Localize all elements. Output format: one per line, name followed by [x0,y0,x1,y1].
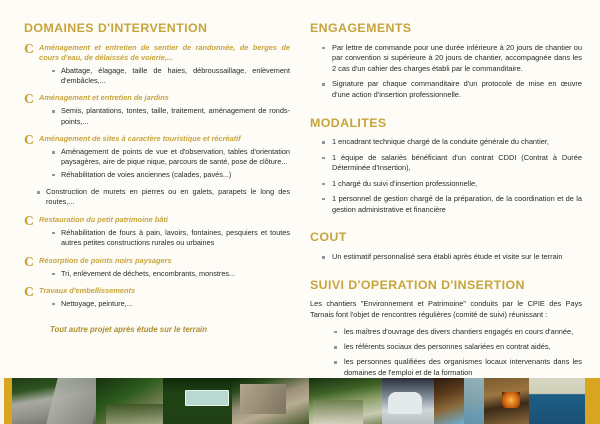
list-item: les référents sociaux des personnes sala… [334,342,582,353]
scroll-bullet-icon: Ɔ [24,285,34,299]
heading-suivi: SUIVI D'OPERATION D'INSERTION [310,279,582,293]
scroll-bullet-icon: Ɔ [24,255,34,269]
list-item: Réhabilitation de fours à pain, lavoirs,… [52,228,290,249]
list-item: Un estimatif personnalisé sera établi ap… [322,252,582,263]
two-column-body: DOMAINES D'INTERVENTION Ɔ Aménagement et… [0,0,600,378]
photo-strip-right-bar [585,378,600,424]
list-suivi: les maîtres d'ouvrage des divers chantie… [310,327,582,379]
sublist-sites-touristiques: Aménagement de points de vue et d'observ… [24,147,290,180]
list-item: Aménagement de points de vue et d'observ… [52,147,290,168]
topic-jardins: Ɔ Aménagement et entretien de jardins [24,93,290,103]
topic-embellissements: Ɔ Travaux d'embellissements [24,286,290,296]
topic-block-sites-touristiques: Ɔ Aménagement de sites à caractère touri… [24,134,290,208]
heading-modalites: MODALITES [310,117,582,131]
heading-domaines: DOMAINES D'INTERVENTION [24,22,290,36]
flatlist-murets: Construction de murets en pierres ou en … [24,187,290,208]
photo-strip [0,378,600,424]
sublist-patrimoine: Réhabilitation de fours à pain, lavoirs,… [24,228,290,249]
list-item: Signature par chaque commanditaire d'un … [322,79,582,100]
photo-pane-path [12,378,96,424]
sublist-embellissements: Nettoyage, peinture,... [24,299,290,309]
list-item: 1 encadrant technique chargé de la condu… [322,137,582,148]
list-item: Construction de murets en pierres ou en … [37,187,290,208]
list-item: Réhabilitation de voies anciennes (calad… [52,170,290,180]
heading-cout: COUT [310,231,582,245]
document-page: DOMAINES D'INTERVENTION Ɔ Aménagement et… [0,0,600,424]
photo-pane-fountain [382,378,434,424]
topic-block-patrimoine: Ɔ Restauration du petit patrimoine bâti … [24,215,290,249]
photo-pane-bread-oven [484,378,529,424]
left-column: DOMAINES D'INTERVENTION Ɔ Aménagement et… [10,22,300,378]
right-column: ENGAGEMENTS Par lettre de commande pour … [300,22,590,378]
photo-pane-stone-wall [232,378,309,424]
list-item: 1 équipe de salariés bénéficiant d'un co… [322,153,582,174]
topic-title: Travaux d'embellissements [39,286,290,296]
topic-title: Restauration du petit patrimoine bâti [39,215,290,225]
list-item: Nettoyage, peinture,... [52,299,290,309]
sublist-jardins: Semis, plantations, tontes, taille, trai… [24,106,290,127]
topic-block-jardins: Ɔ Aménagement et entretien de jardins Se… [24,93,290,127]
scroll-bullet-icon: Ɔ [24,92,34,106]
topic-block-points-noirs: Ɔ Résorption de points noirs paysagers T… [24,256,290,279]
topic-title: Aménagement de sites à caractère tourist… [39,134,290,144]
scroll-bullet-icon: Ɔ [24,133,34,147]
closing-note: Tout autre projet après étude sur le ter… [50,325,290,334]
photo-pane-pool [529,378,584,424]
topic-block-embellissements: Ɔ Travaux d'embellissements Nettoyage, p… [24,286,290,309]
topic-title: Résorption de points noirs paysagers [39,256,290,266]
list-modalites: 1 encadrant technique chargé de la condu… [310,137,582,215]
topic-randonnee: Ɔ Aménagement et entretien de sentier de… [24,43,290,63]
sublist-points-noirs: Tri, enlèvement de déchets, encombrants,… [24,269,290,279]
topic-title: Aménagement et entretien de sentier de r… [39,43,290,63]
topic-block-randonnee: Ɔ Aménagement et entretien de sentier de… [24,43,290,87]
list-item: Par lettre de commande pour une durée in… [322,43,582,75]
topic-patrimoine: Ɔ Restauration du petit patrimoine bâti [24,215,290,225]
list-item: 1 personnel de gestion chargé de la prép… [322,194,582,215]
topic-points-noirs: Ɔ Résorption de points noirs paysagers [24,256,290,266]
photo-pane-sign [163,378,232,424]
list-item: Tri, enlèvement de déchets, encombrants,… [52,269,290,279]
list-item: les maîtres d'ouvrage des divers chantie… [334,327,582,338]
topic-title: Aménagement et entretien de jardins [39,93,290,103]
list-item: Semis, plantations, tontes, taille, trai… [52,106,290,127]
list-cout: Un estimatif personnalisé sera établi ap… [310,252,582,263]
photo-strip-left-bar [0,378,12,424]
photo-pane-lawn [309,378,381,424]
suivi-intro: Les chantiers "Environnement et Patrimoi… [310,299,582,320]
list-engagements: Par lettre de commande pour une durée in… [310,43,582,101]
list-item: Abattage, élagage, taille de haies, débr… [52,66,290,87]
list-item: les personnes qualifiées des organismes … [334,357,582,378]
heading-engagements: ENGAGEMENTS [310,22,582,36]
scroll-bullet-icon: Ɔ [24,42,34,56]
photo-pane-garden [96,378,163,424]
photo-pane-water [434,378,484,424]
topic-sites-touristiques: Ɔ Aménagement de sites à caractère touri… [24,134,290,144]
list-item: 1 chargé du suivi d'insertion profession… [322,179,582,190]
sublist-randonnee: Abattage, élagage, taille de haies, débr… [24,66,290,87]
scroll-bullet-icon: Ɔ [24,214,34,228]
